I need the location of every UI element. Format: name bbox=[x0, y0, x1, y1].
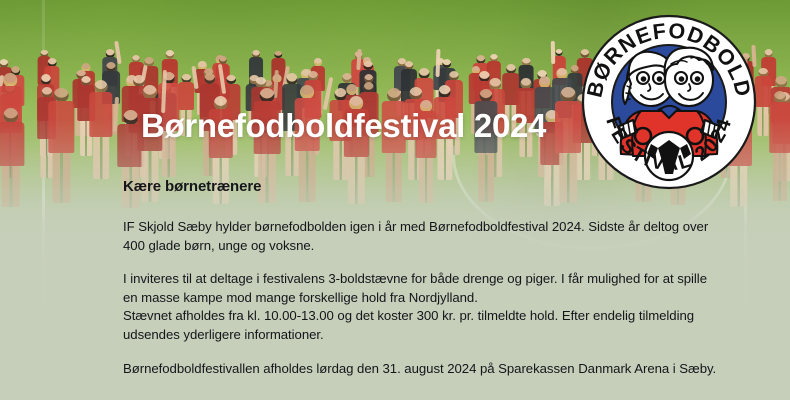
paragraph-cut-off bbox=[123, 393, 723, 400]
photo-person-arm bbox=[550, 41, 554, 64]
photo-person-head bbox=[54, 88, 68, 102]
photo-person-legs bbox=[2, 166, 20, 208]
photo-person-torso bbox=[49, 101, 74, 153]
paragraph-invitation: I inviteres til at deltage i festivalens… bbox=[123, 270, 723, 344]
photo-person-legs bbox=[437, 139, 452, 179]
photo-person-head bbox=[561, 87, 576, 102]
photo-person-torso bbox=[555, 101, 581, 153]
photo-person-torso bbox=[0, 122, 24, 166]
photo-person bbox=[88, 80, 113, 186]
photo-person-torso bbox=[769, 102, 790, 153]
poster-page: Børnefodboldfestival 2024 Kære børnetræn… bbox=[0, 0, 790, 400]
paragraph-venue: Børnefodboldfestivallen afholdes lørdag … bbox=[123, 360, 723, 379]
page-title: Børnefodboldfestival 2024 bbox=[141, 109, 546, 142]
photo-person-torso bbox=[178, 82, 194, 110]
photo-person-legs bbox=[53, 153, 70, 203]
photo-person-head bbox=[260, 88, 275, 103]
photo-person-head bbox=[143, 85, 157, 99]
photo-person-arm bbox=[436, 49, 441, 77]
photo-person bbox=[48, 88, 76, 212]
photo-person-head bbox=[3, 108, 18, 123]
photo-person-legs bbox=[757, 107, 768, 136]
pitch-penalty-box bbox=[760, 372, 790, 400]
photo-person bbox=[0, 108, 26, 212]
photo-person bbox=[768, 91, 790, 212]
photo-person-torso bbox=[89, 92, 112, 137]
letter-body: Kære børnetrænere IF Skjold Sæby hylder … bbox=[123, 178, 723, 400]
paragraph-intro: IF Skjold Sæby hylder børnefodbolden ige… bbox=[123, 218, 723, 255]
photo-person-legs bbox=[93, 137, 109, 179]
photo-person-legs bbox=[773, 153, 787, 201]
bornefodbold-festival-logo: BØRNEFODBOLD FESTIVAL 2024 bbox=[581, 14, 757, 190]
